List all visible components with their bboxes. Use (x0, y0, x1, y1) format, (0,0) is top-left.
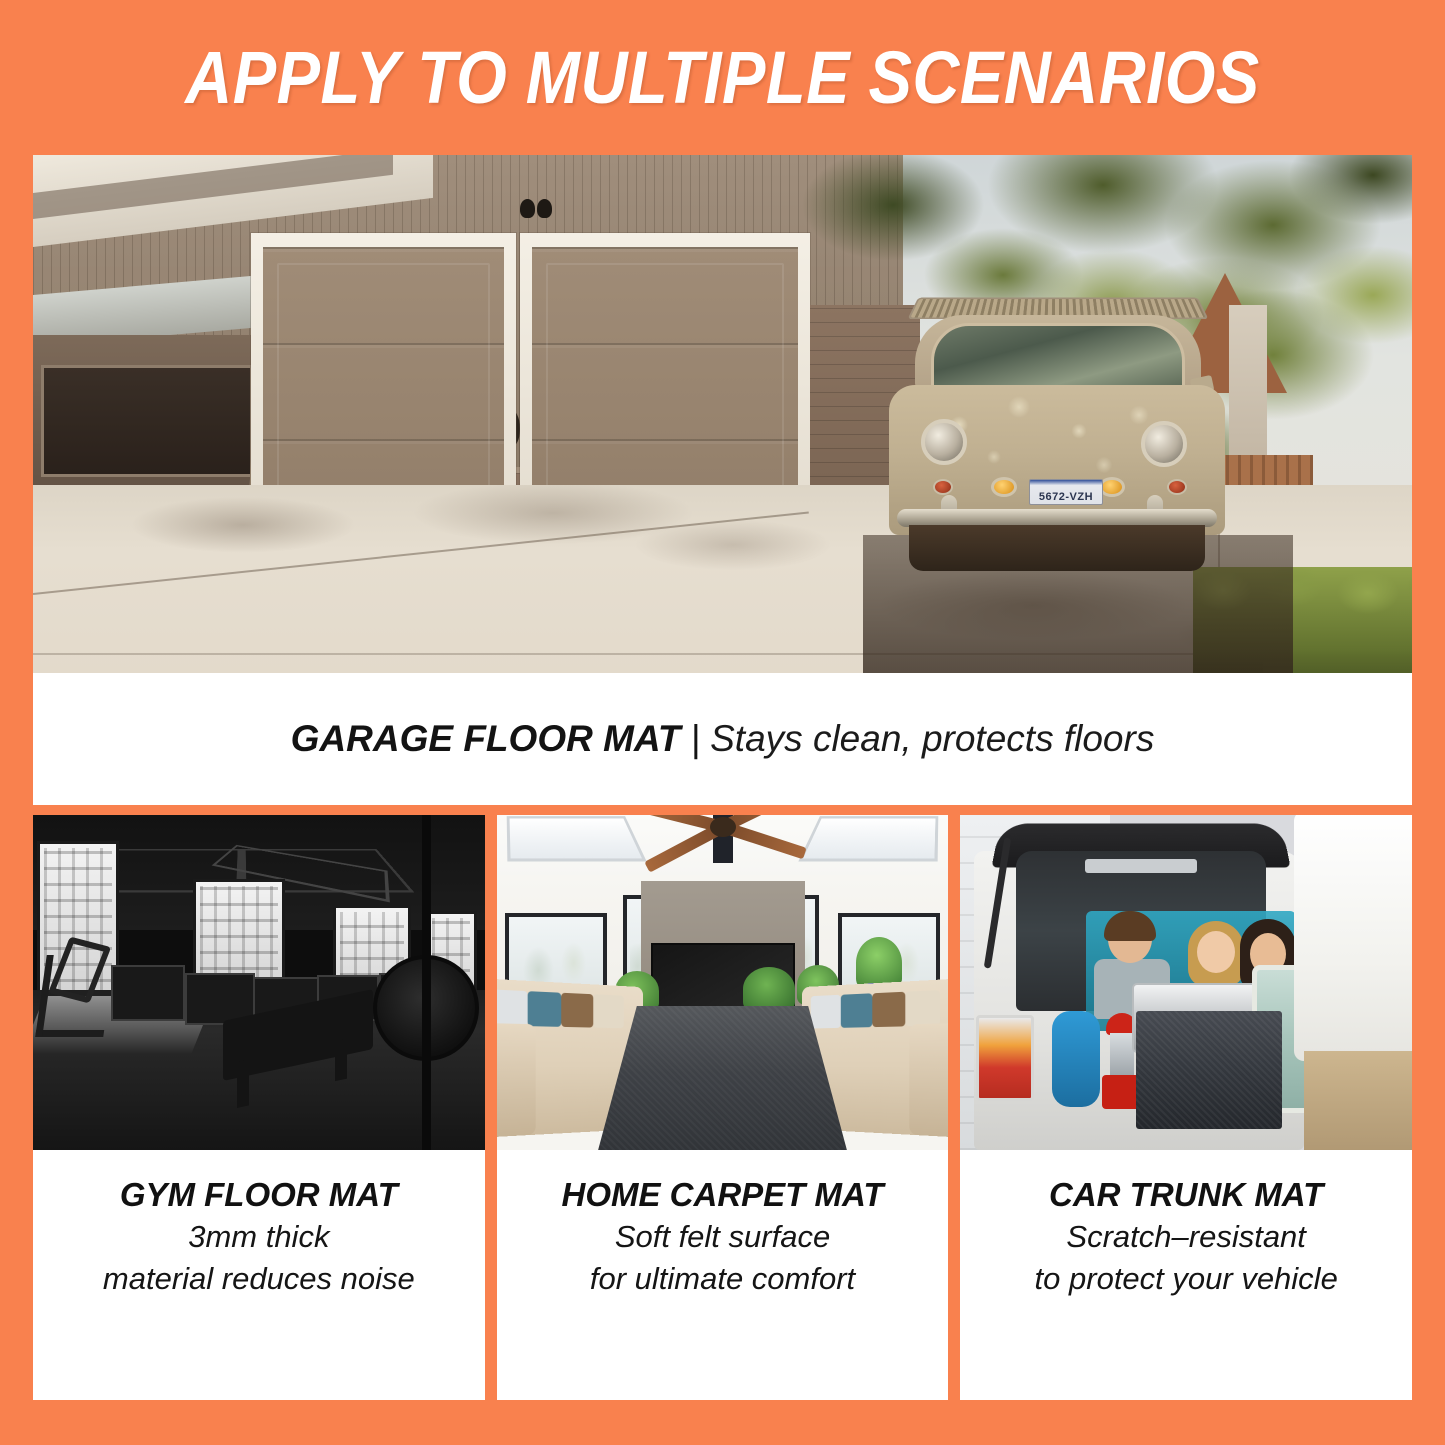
car-windshield (931, 323, 1185, 393)
throw-pillow (497, 989, 528, 1026)
scenario-line-1: 3mm thick (188, 1218, 329, 1256)
houseplant (743, 967, 795, 1011)
home-caption-panel: HOME CARPET MAT Soft felt surface for ul… (497, 1150, 949, 1400)
scenario-card-home: HOME CARPET MAT Soft felt surface for ul… (497, 815, 949, 1400)
hero-caption-text: Stays clean, protects floors (710, 718, 1154, 759)
product-infographic-poster: APPLY TO MULTIPLE SCENARIOS (0, 0, 1445, 1445)
car-underside (909, 525, 1205, 571)
living-room-photo (497, 815, 949, 1150)
sofa-arm (497, 1023, 536, 1138)
scenario-line-2: for ultimate comfort (590, 1260, 855, 1298)
squat-rack-post (422, 815, 431, 1150)
light-bulb (520, 199, 535, 218)
lantern-glass (1110, 1033, 1134, 1077)
header-banner: APPLY TO MULTIPLE SCENARIOS (0, 0, 1445, 155)
light-bulb (537, 199, 552, 218)
scenario-line-2: to protect your vehicle (1035, 1260, 1338, 1298)
headlight-right (1141, 421, 1187, 467)
side-marker-left (933, 479, 953, 495)
gym-photo (33, 815, 485, 1150)
turn-signal-left (991, 477, 1017, 497)
treadmill (111, 965, 185, 1021)
page-title: APPLY TO MULTIPLE SCENARIOS (185, 35, 1259, 120)
throw-pillow (811, 995, 841, 1029)
side-marker-right (1167, 479, 1187, 495)
car-trunk-photo (960, 815, 1412, 1150)
trunk-caption-panel: CAR TRUNK MAT Scratch–resistant to prote… (960, 1150, 1412, 1400)
throw-pillow (527, 991, 561, 1027)
license-plate-text: 5672-VZH (1039, 491, 1093, 504)
hero-caption-line: GARAGE FLOOR MAT|Stays clean, protects f… (291, 718, 1155, 760)
elliptical-machine (35, 955, 115, 1037)
throw-pillow (841, 993, 873, 1028)
child-hair (1104, 911, 1156, 941)
throw-pillow (561, 993, 593, 1028)
scenario-title: HOME CARPET MAT (561, 1176, 883, 1214)
hero-caption-label: GARAGE FLOOR MAT (291, 718, 681, 759)
sofa-arm (910, 1023, 949, 1138)
scenario-line-1: Soft felt surface (615, 1218, 830, 1256)
car-trunk-mat (1136, 1011, 1282, 1129)
home-carpet-mat (597, 1006, 849, 1150)
skylight-right (799, 816, 939, 861)
scenario-columns: GYM FLOOR MAT 3mm thick material reduces… (33, 815, 1412, 1400)
throw-pillow (593, 994, 624, 1028)
throw-pillow (906, 990, 941, 1026)
scenario-line-1: Scratch–resistant (1066, 1218, 1306, 1256)
headlight-left (921, 419, 967, 465)
neighbor-window (41, 365, 253, 477)
exterior-light-icon (520, 199, 554, 225)
vintage-car: 5672-VZH (879, 273, 1235, 573)
hero-photo-garage: 5672-VZH (33, 155, 1412, 673)
skylight-left (506, 816, 646, 861)
hero-caption-panel: GARAGE FLOOR MAT|Stays clean, protects f… (33, 673, 1412, 805)
ceiling-fan-motor (710, 817, 736, 837)
scenario-title: CAR TRUNK MAT (1049, 1176, 1323, 1214)
tail-light (976, 1015, 1034, 1101)
scenario-card-gym: GYM FLOOR MAT 3mm thick material reduces… (33, 815, 485, 1400)
license-plate: 5672-VZH (1029, 479, 1103, 505)
scenario-title: GYM FLOOR MAT (120, 1176, 398, 1214)
gym-caption-panel: GYM FLOOR MAT 3mm thick material reduces… (33, 1150, 485, 1400)
person-white-shirt (1294, 815, 1412, 1061)
hero-caption-separator: | (691, 718, 701, 759)
scenario-card-trunk: CAR TRUNK MAT Scratch–resistant to prote… (960, 815, 1412, 1400)
blue-sleeping-bag (1052, 1011, 1100, 1107)
person-khaki-pants (1304, 1051, 1412, 1150)
dome-light (1085, 859, 1197, 873)
throw-pillow (873, 992, 906, 1027)
scenario-line-2: material reduces noise (103, 1260, 415, 1298)
